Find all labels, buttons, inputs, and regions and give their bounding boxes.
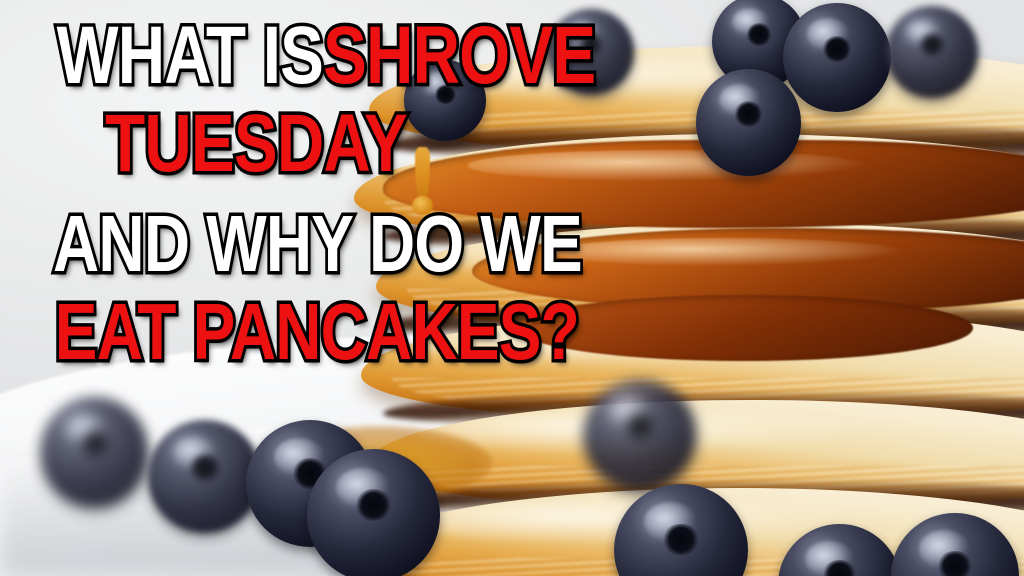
headline-part-white: WHAT IS xyxy=(57,16,323,96)
headline-line-3: AND WHY DO WE xyxy=(53,205,461,283)
headline-line-4: EAT PANCAKES? xyxy=(55,293,461,371)
video-thumbnail: WHAT IS SHROVE TUESDAY AND WHY DO WE EAT… xyxy=(0,0,1024,576)
syrup-pool xyxy=(516,295,973,361)
headline-line-2: TUESDAY xyxy=(51,104,461,184)
headline-overlay: WHAT IS SHROVE TUESDAY AND WHY DO WE EAT… xyxy=(0,16,512,372)
headline-line-1: WHAT IS SHROVE xyxy=(57,16,462,96)
blueberry xyxy=(886,6,978,98)
blueberry xyxy=(783,3,891,112)
blueberry xyxy=(307,449,440,576)
headline-part-red: SHROVE xyxy=(323,16,595,96)
blueberry xyxy=(584,380,697,489)
blueberry xyxy=(148,420,261,532)
blueberry xyxy=(696,69,800,176)
blueberry xyxy=(41,397,149,506)
